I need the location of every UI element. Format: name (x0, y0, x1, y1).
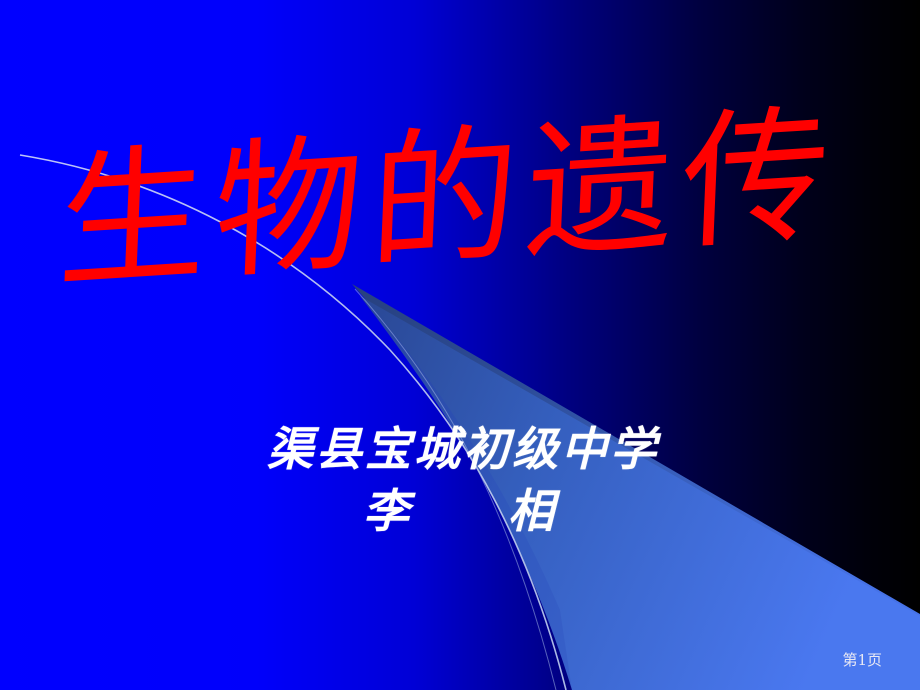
presentation-slide: 生物的遗传 渠县宝城初级中学 李 相 第1页 (0, 0, 920, 690)
author-surname: 李 (363, 484, 412, 538)
subtitle-school-name: 渠县宝城初级中学 (0, 418, 920, 480)
author-given-name: 相 (508, 484, 557, 538)
subtitle-area: 渠县宝城初级中学 李 相 (0, 418, 920, 542)
page-number-label: 第1页 (842, 649, 882, 670)
background-decoration (0, 0, 920, 690)
subtitle-author: 李 相 (0, 480, 920, 542)
